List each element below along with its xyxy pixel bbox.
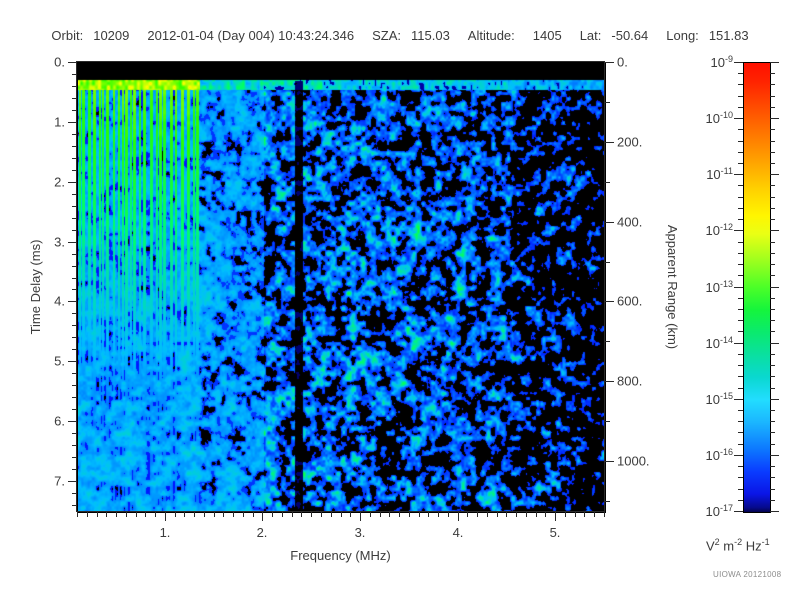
x-tick-minor [584,512,585,517]
colorbar-tick-minor [738,219,743,220]
orbit-value: 10209 [93,28,129,43]
y2-tick-minor [605,421,610,422]
colorbar-tick-minor [738,141,743,142]
altitude-value: 1405 [533,28,562,43]
x-tick-minor [223,512,224,517]
y-tick-minor [72,254,77,255]
y-tick-minor [72,230,77,231]
x-tick-minor [331,512,332,517]
altitude-label: Altitude: [468,28,515,43]
colorbar-tick-minor [738,197,743,198]
x-tick-major [262,512,263,521]
colorbar-tick-minor-right [770,129,775,130]
x-tick-minor [282,512,283,517]
y2-tick-major [605,461,614,462]
y2-tick-minor [605,102,610,103]
colorbar-tick-minor-right [770,331,775,332]
y-axis-title-left: Time Delay (ms) [28,239,43,334]
colorbar-tick-minor [738,466,743,467]
lat-value: -50.64 [611,28,648,43]
colorbar-tick-label: 10-15 [689,391,733,407]
colorbar-tick-major-right [770,62,779,63]
x-tick-minor [87,512,88,517]
y-tick-label: 0. [31,55,65,70]
y-tick-minor [72,194,77,195]
y-tick-major [68,301,77,302]
y-tick-minor [72,266,77,267]
credit-footer: UIOWA 20121008 [713,570,781,579]
x-tick-major [165,512,166,521]
y-tick-minor [72,397,77,398]
colorbar-tick-major-right [770,511,779,512]
colorbar [743,62,771,513]
colorbar-tick-minor [738,275,743,276]
colorbar-tick-major [734,230,743,231]
x-tick-minor [575,512,576,517]
colorbar-tick-minor [738,129,743,130]
x-tick-minor [477,512,478,517]
y-tick-major [68,421,77,422]
colorbar-tick-minor-right [770,309,775,310]
colorbar-tick-major [734,118,743,119]
orbit-label: Orbit: [51,28,83,43]
colorbar-tick-minor [738,432,743,433]
colorbar-tick-minor [738,253,743,254]
colorbar-tick-minor [738,320,743,321]
colorbar-tick-label: 10-13 [689,279,733,295]
x-tick-minor [526,512,527,517]
colorbar-tick-minor [738,163,743,164]
y-tick-minor [72,110,77,111]
y2-tick-minor [605,341,610,342]
colorbar-tick-minor-right [770,500,775,501]
x-tick-minor [419,512,420,517]
x-tick-minor [272,512,273,517]
colorbar-tick-major-right [770,174,779,175]
colorbar-tick-minor [738,73,743,74]
colorbar-tick-major [734,399,743,400]
colorbar-tick-major [734,174,743,175]
y-axis-title-right: Apparent Range (km) [665,224,680,348]
colorbar-tick-major [734,287,743,288]
colorbar-tick-minor [738,242,743,243]
y-tick-minor [72,385,77,386]
y-tick-major [68,182,77,183]
x-tick-minor [204,512,205,517]
colorbar-tick-minor-right [770,219,775,220]
y2-tick-label: 1000. [617,454,650,469]
colorbar-tick-minor-right [770,410,775,411]
colorbar-tick-minor-right [770,242,775,243]
colorbar-tick-label: 10-14 [689,335,733,351]
colorbar-tick-label: 10-11 [689,166,733,182]
colorbar-tick-minor-right [770,388,775,389]
y-tick-minor [72,74,77,75]
colorbar-tick-major-right [770,455,779,456]
colorbar-tick-minor [738,309,743,310]
y-tick-minor [72,146,77,147]
y-tick-major [68,62,77,63]
colorbar-tick-minor-right [770,197,775,198]
y-tick-minor [72,469,77,470]
y2-tick-label: 400. [617,215,642,230]
colorbar-tick-minor-right [770,185,775,186]
y-tick-minor [72,373,77,374]
colorbar-tick-minor [738,264,743,265]
colorbar-tick-label: 10-10 [689,110,733,126]
colorbar-tick-minor-right [770,141,775,142]
lat-label: Lat: [580,28,602,43]
datetime-value: 2012-01-04 (Day 004) 10:43:24.346 [147,28,354,43]
x-axis-title: Frequency (MHz) [290,548,390,563]
x-tick-minor [389,512,390,517]
y-tick-minor [72,170,77,171]
y-tick-major [68,122,77,123]
x-tick-minor [97,512,98,517]
x-tick-minor [253,512,254,517]
colorbar-tick-major [734,455,743,456]
y2-tick-minor [605,262,610,263]
x-tick-minor [467,512,468,517]
colorbar-tick-minor [738,388,743,389]
colorbar-tick-minor-right [770,421,775,422]
colorbar-tick-minor [738,489,743,490]
y-tick-minor [72,349,77,350]
colorbar-tick-label: 10-12 [689,222,733,238]
y-tick-minor [72,505,77,506]
y2-tick-major [605,301,614,302]
x-tick-minor [77,512,78,517]
x-tick-label: 3. [355,525,366,540]
colorbar-tick-minor-right [770,365,775,366]
y-tick-minor [72,158,77,159]
x-tick-minor [536,512,537,517]
x-tick-minor [399,512,400,517]
x-tick-major [458,512,459,521]
x-tick-minor [341,512,342,517]
y-tick-minor [72,98,77,99]
long-value: 151.83 [709,28,749,43]
x-tick-minor [184,512,185,517]
colorbar-tick-minor-right [770,354,775,355]
colorbar-tick-minor [738,298,743,299]
colorbar-tick-label: 10-9 [689,54,733,70]
y2-tick-label: 200. [617,135,642,150]
x-tick-minor [194,512,195,517]
ionogram-heatmap [78,63,605,512]
x-tick-minor [516,512,517,517]
colorbar-tick-minor [738,444,743,445]
colorbar-tick-major [734,62,743,63]
colorbar-tick-minor [738,477,743,478]
colorbar-tick-minor [738,376,743,377]
x-tick-minor [370,512,371,517]
colorbar-tick-minor-right [770,376,775,377]
x-tick-label: 4. [453,525,464,540]
colorbar-tick-major-right [770,118,779,119]
colorbar-tick-major [734,343,743,344]
x-tick-minor [233,512,234,517]
y2-tick-major [605,142,614,143]
x-tick-minor [301,512,302,517]
x-tick-minor [497,512,498,517]
colorbar-tick-minor-right [770,320,775,321]
y-tick-major [68,242,77,243]
x-tick-minor [106,512,107,517]
colorbar-tick-minor [738,500,743,501]
colorbar-tick-minor-right [770,298,775,299]
x-tick-minor [506,512,507,517]
x-tick-minor [428,512,429,517]
x-tick-minor [136,512,137,517]
y2-tick-label: 0. [617,55,628,70]
y-tick-minor [72,278,77,279]
colorbar-tick-major-right [770,230,779,231]
colorbar-tick-minor [738,421,743,422]
colorbar-tick-minor-right [770,275,775,276]
x-tick-minor [380,512,381,517]
x-axis-top-line [76,61,605,62]
colorbar-tick-minor [738,96,743,97]
colorbar-tick-minor-right [770,264,775,265]
colorbar-tick-major [734,511,743,512]
x-tick-minor [594,512,595,517]
x-tick-minor [409,512,410,517]
sza-value: 115.03 [411,28,450,43]
y-tick-label: 1. [31,115,65,130]
y-tick-minor [72,433,77,434]
x-tick-minor [487,512,488,517]
long-label: Long: [666,28,699,43]
y-tick-minor [72,289,77,290]
ionogram-page: Orbit:102092012-01-04 (Day 004) 10:43:24… [0,0,800,600]
colorbar-tick-minor-right [770,73,775,74]
colorbar-tick-minor-right [770,208,775,209]
colorbar-tick-minor-right [770,84,775,85]
colorbar-tick-major-right [770,287,779,288]
y-tick-minor [72,218,77,219]
x-tick-minor [448,512,449,517]
colorbar-tick-minor [738,365,743,366]
x-tick-minor [243,512,244,517]
x-tick-minor [321,512,322,517]
y2-tick-major [605,381,614,382]
x-tick-major [360,512,361,521]
x-tick-minor [214,512,215,517]
x-tick-major [555,512,556,521]
x-tick-minor [175,512,176,517]
x-tick-minor [545,512,546,517]
colorbar-tick-minor-right [770,477,775,478]
y2-tick-label: 600. [617,294,642,309]
y-tick-minor [72,457,77,458]
colorbar-tick-minor [738,84,743,85]
x-tick-label: 1. [160,525,171,540]
x-tick-minor [145,512,146,517]
y-axis-right-line [604,61,605,512]
colorbar-tick-minor [738,354,743,355]
x-tick-minor [350,512,351,517]
colorbar-tick-minor-right [770,432,775,433]
colorbar-tick-minor-right [770,466,775,467]
x-tick-label: 2. [257,525,268,540]
y2-tick-major [605,222,614,223]
y-tick-minor [72,325,77,326]
colorbar-tick-minor-right [770,96,775,97]
colorbar-tick-minor-right [770,152,775,153]
y-tick-minor [72,86,77,87]
x-tick-minor [292,512,293,517]
y-tick-label: 7. [31,474,65,489]
colorbar-tick-label: 10-17 [689,503,733,519]
y-tick-label: 2. [31,175,65,190]
y2-tick-label: 800. [617,374,642,389]
colorbar-tick-minor-right [770,489,775,490]
colorbar-tick-minor [738,107,743,108]
x-tick-minor [116,512,117,517]
colorbar-units: V2 m-2 Hz-1 [706,537,770,553]
colorbar-tick-minor [738,152,743,153]
colorbar-tick-minor [738,208,743,209]
x-tick-minor [311,512,312,517]
y-tick-minor [72,493,77,494]
y2-tick-minor [605,182,610,183]
y-tick-minor [72,313,77,314]
y-tick-minor [72,337,77,338]
x-tick-minor [438,512,439,517]
colorbar-tick-minor [738,410,743,411]
colorbar-tick-minor-right [770,163,775,164]
y-tick-major [68,481,77,482]
colorbar-tick-minor [738,185,743,186]
y2-tick-minor [605,501,610,502]
colorbar-tick-major-right [770,399,779,400]
y-tick-label: 5. [31,354,65,369]
y-tick-minor [72,445,77,446]
y-tick-minor [72,206,77,207]
x-tick-minor [565,512,566,517]
x-tick-minor [155,512,156,517]
y2-tick-major [605,62,614,63]
colorbar-tick-minor-right [770,107,775,108]
x-tick-minor [126,512,127,517]
y-tick-minor [72,409,77,410]
colorbar-tick-minor [738,331,743,332]
colorbar-tick-label: 10-16 [689,447,733,463]
colorbar-tick-minor-right [770,253,775,254]
x-tick-minor [604,512,605,517]
colorbar-tick-major-right [770,343,779,344]
ionogram-plot-area [77,62,606,513]
colorbar-tick-minor-right [770,444,775,445]
x-tick-label: 5. [550,525,561,540]
y-tick-minor [72,134,77,135]
plot-header: Orbit:102092012-01-04 (Day 004) 10:43:24… [0,28,800,43]
sza-label: SZA: [372,28,401,43]
y-tick-label: 6. [31,414,65,429]
y-tick-major [68,361,77,362]
